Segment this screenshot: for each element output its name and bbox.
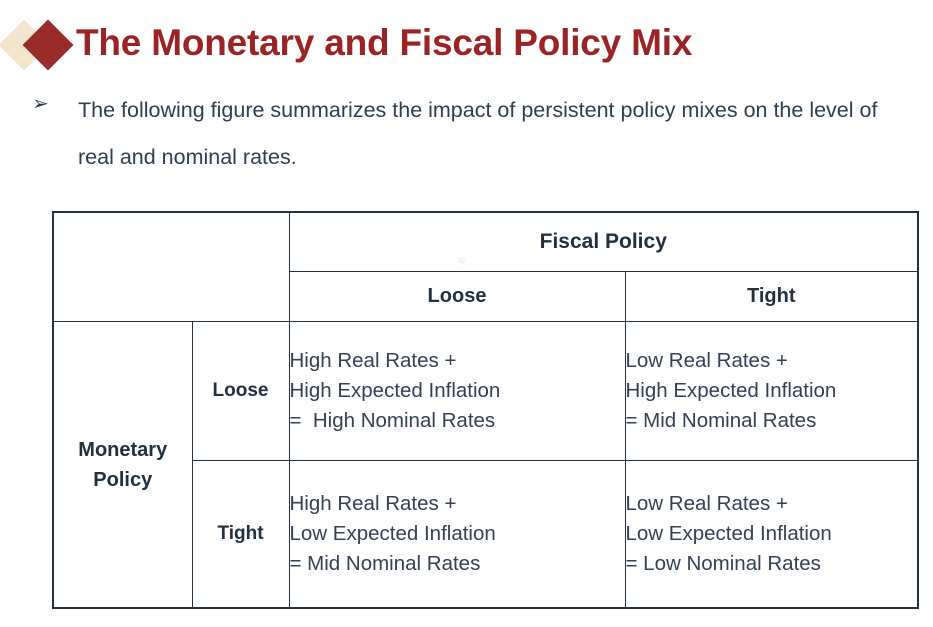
page-title: The Monetary and Fiscal Policy Mix bbox=[76, 20, 692, 66]
row-group-header-line-1: Monetary bbox=[78, 439, 167, 461]
row-group-header-line-2: Policy bbox=[93, 469, 152, 491]
cell-tight-tight: Low Real Rates + Low Expected Inflation … bbox=[625, 461, 918, 609]
column-header-fiscal-tight: Tight bbox=[625, 272, 918, 322]
table-row: Monetary Policy Loose High Real Rates + … bbox=[53, 322, 918, 461]
cell-line-1: Low Real Rates + bbox=[626, 489, 918, 519]
cell-loose-tight: Low Real Rates + High Expected Inflation… bbox=[625, 322, 918, 461]
cell-line-2: Low Expected Inflation bbox=[626, 519, 918, 549]
bullet-block: ➢ The following figure summarizes the im… bbox=[30, 87, 910, 181]
column-header-fiscal-loose: Loose bbox=[289, 272, 625, 322]
column-group-header-fiscal-policy: Fiscal Policy bbox=[289, 212, 918, 272]
cell-line-3: = Mid Nominal Rates bbox=[626, 406, 918, 436]
cell-tight-loose: High Real Rates + Low Expected Inflation… bbox=[289, 461, 625, 609]
cell-line-3: = Mid Nominal Rates bbox=[290, 549, 625, 579]
cell-line-3: = High Nominal Rates bbox=[290, 406, 625, 436]
cell-line-1: High Real Rates + bbox=[290, 346, 625, 376]
cell-loose-loose: High Real Rates + High Expected Inflatio… bbox=[289, 322, 625, 461]
row-group-header-monetary-policy: Monetary Policy bbox=[53, 322, 192, 609]
bullet-text: The following figure summarizes the impa… bbox=[78, 87, 903, 181]
row-header-monetary-loose: Loose bbox=[192, 322, 289, 461]
cell-line-2: High Expected Inflation bbox=[290, 376, 625, 406]
cell-line-2: High Expected Inflation bbox=[626, 376, 918, 406]
slide-title-row: The Monetary and Fiscal Policy Mix bbox=[0, 8, 933, 74]
cell-line-3: = Low Nominal Rates bbox=[626, 549, 918, 579]
cell-line-2: Low Expected Inflation bbox=[290, 519, 625, 549]
policy-matrix-table: Fiscal Policy Loose Tight Monetary Polic… bbox=[52, 211, 919, 609]
bullet-arrow-icon: ➢ bbox=[32, 91, 58, 117]
cell-line-1: Low Real Rates + bbox=[626, 346, 918, 376]
table-corner-cell bbox=[53, 212, 289, 322]
cell-line-1: High Real Rates + bbox=[290, 489, 625, 519]
row-header-monetary-tight: Tight bbox=[192, 461, 289, 609]
table-row-group-header: Fiscal Policy bbox=[53, 212, 918, 272]
